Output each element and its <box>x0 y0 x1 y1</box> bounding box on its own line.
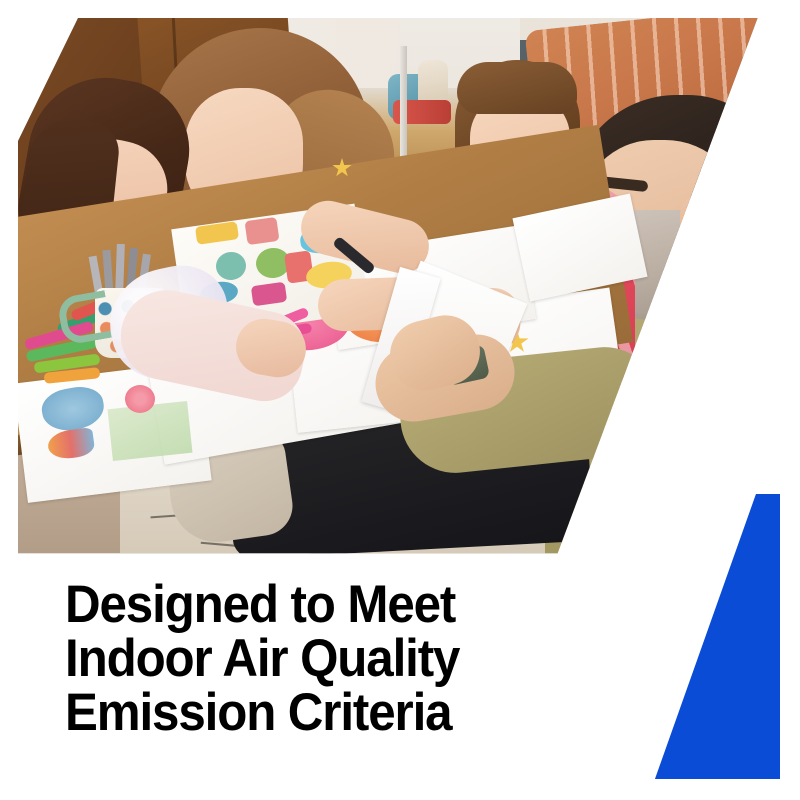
marketing-banner: Designed to Meet Indoor Air Quality Emis… <box>0 0 800 800</box>
family-crafts-photo <box>0 0 800 600</box>
boy-fringe <box>457 62 577 114</box>
headline: Designed to Meet Indoor Air Quality Emis… <box>65 578 586 740</box>
headline-line-1: Designed to Meet <box>65 578 586 632</box>
headline-line-3: Emission Criteria <box>65 686 586 740</box>
pink-flower-drawing <box>125 385 155 413</box>
headline-line-2: Indoor Air Quality <box>65 632 586 686</box>
father-ear <box>680 195 720 247</box>
green-paint-swatch <box>108 401 193 461</box>
floor-lamp-pole <box>400 46 407 166</box>
blue-angled-wedge-accent <box>650 494 780 779</box>
sticker <box>244 217 279 245</box>
